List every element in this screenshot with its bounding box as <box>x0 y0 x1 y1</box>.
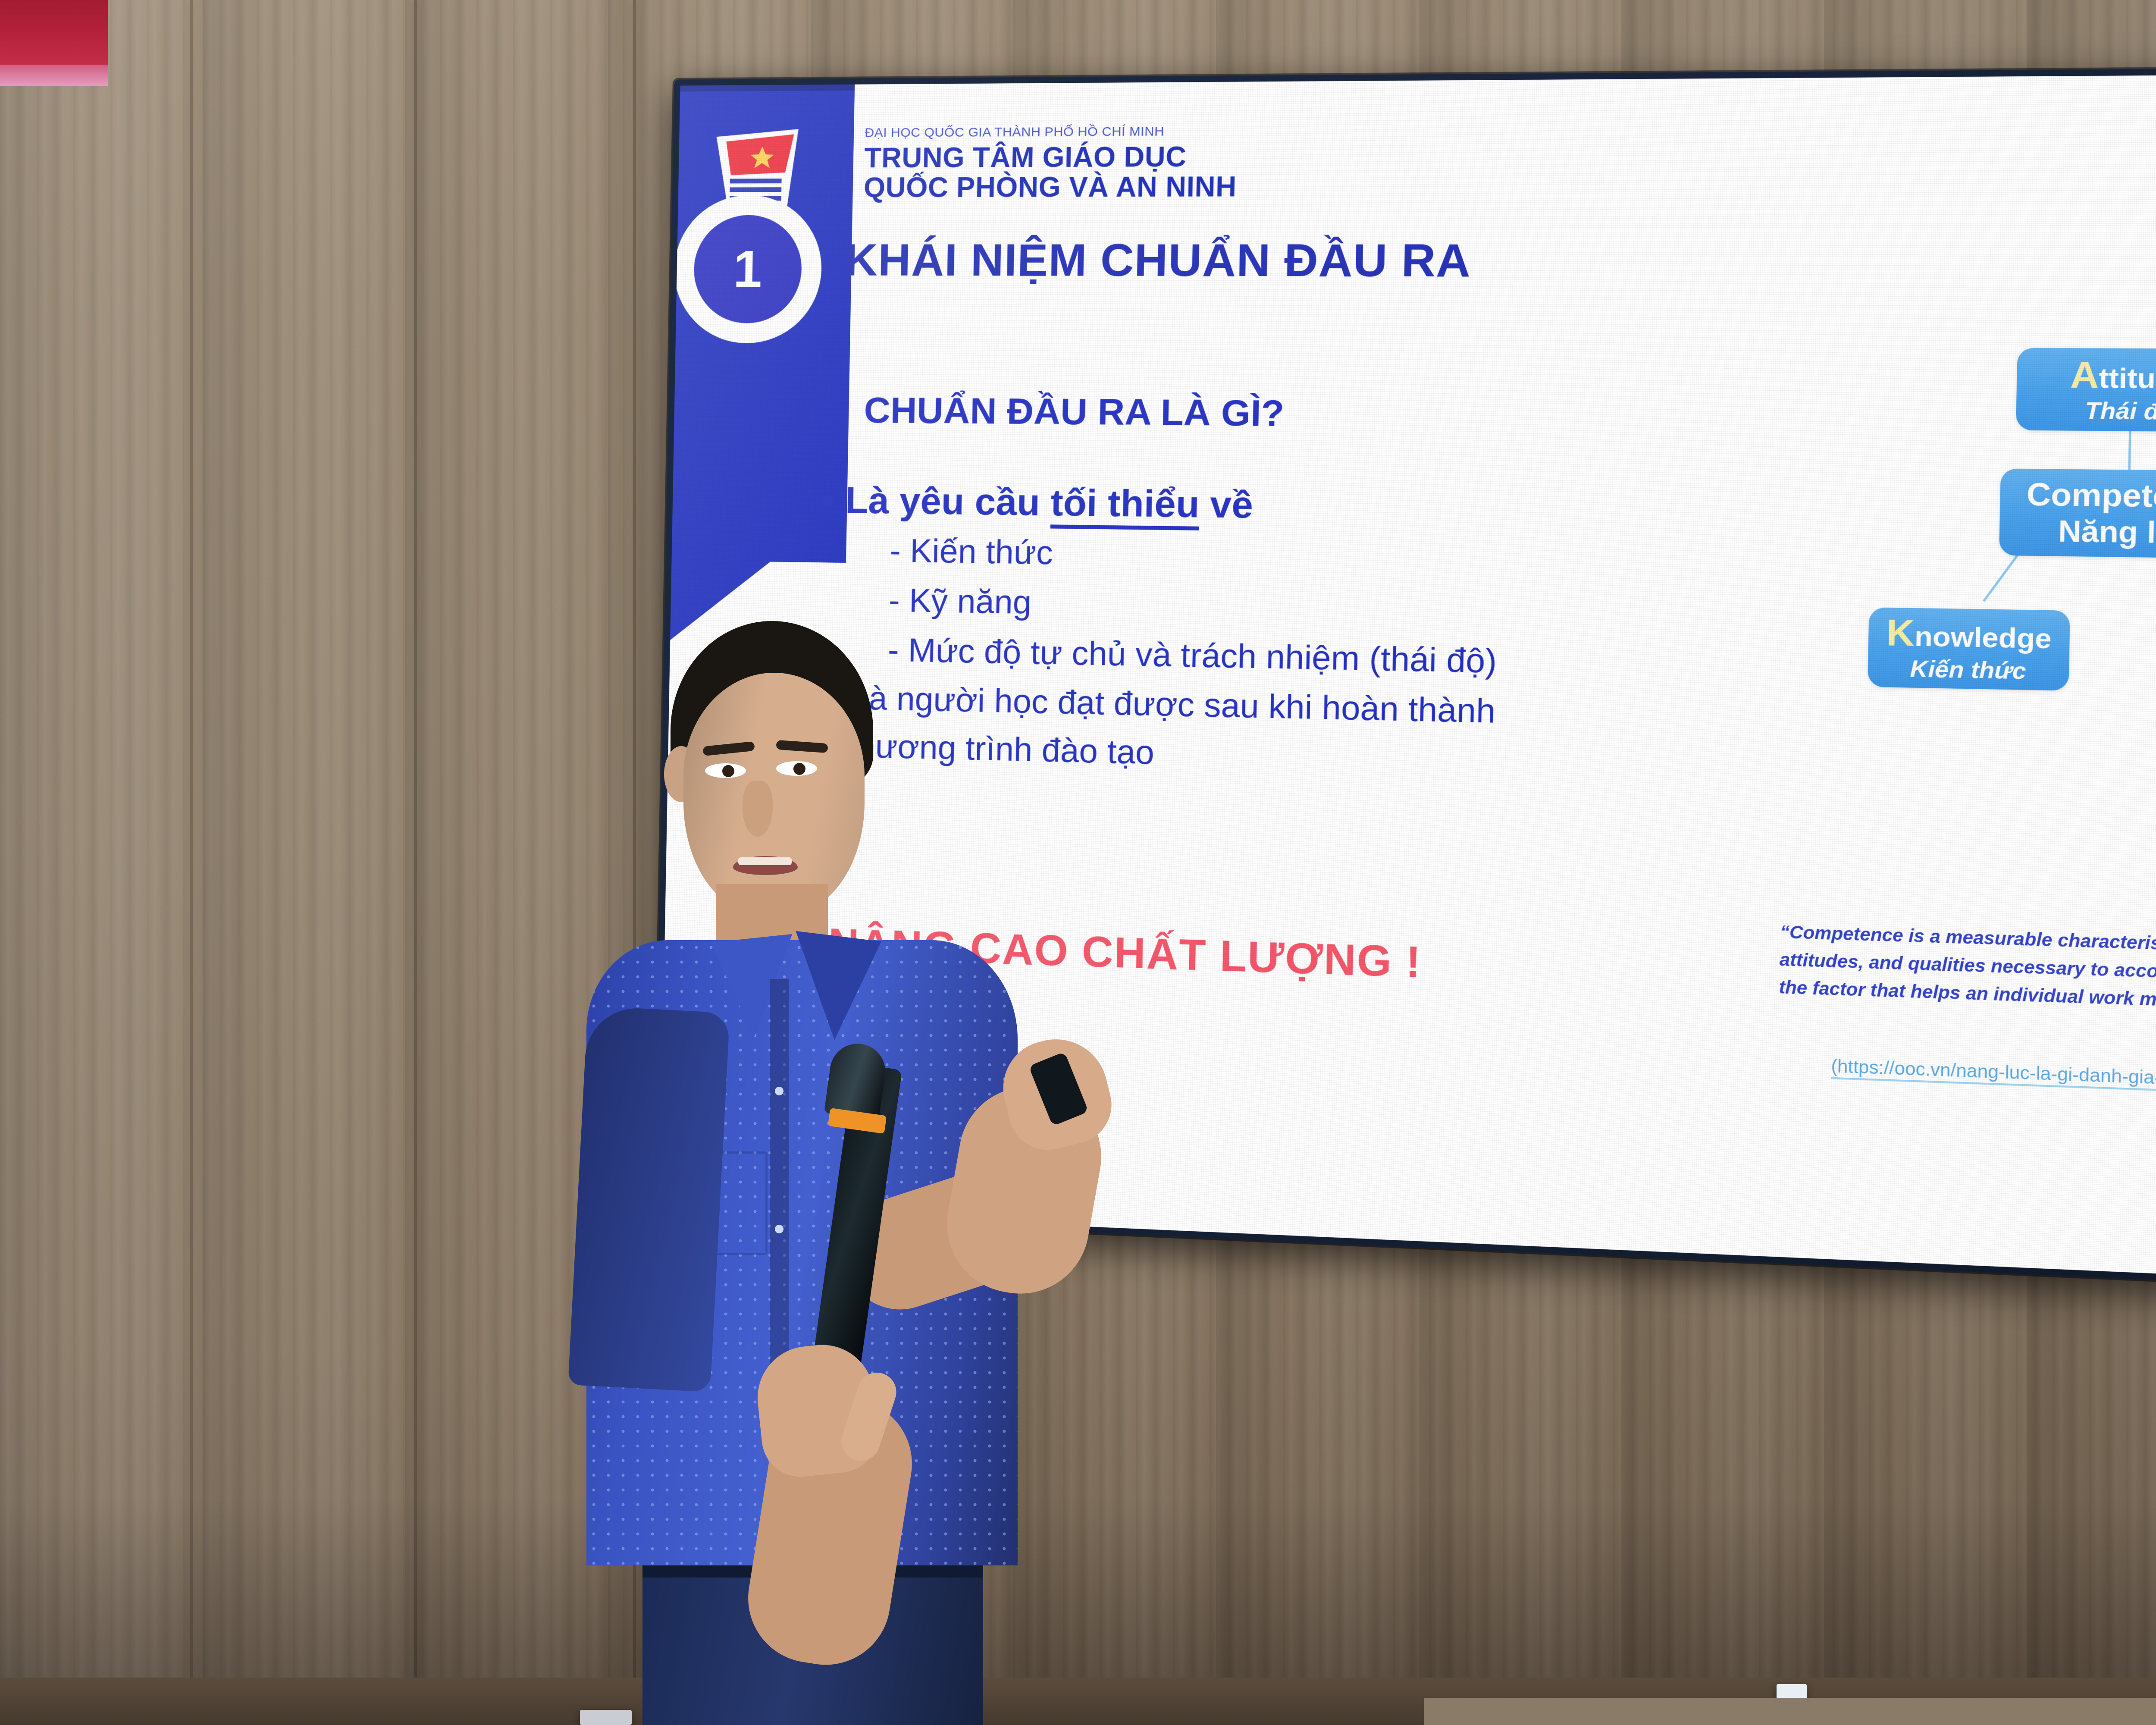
vietnam-flag-book-emblem-icon: VNUHCM <box>704 121 814 221</box>
bullet-marker: • <box>821 479 834 521</box>
presenter-face-shading <box>683 673 865 914</box>
slide-title: KHÁI NIỆM CHUẨN ĐẦU RA <box>845 235 1472 288</box>
node-vi-competency: Năng lực <box>2058 515 2156 549</box>
floor-object <box>1777 1684 1807 1725</box>
slide-brand-topstrip <box>680 85 855 92</box>
center-name-line-1: TRUNG TÂM GIÁO DỤC <box>864 141 1422 173</box>
bullet-lead-after: về <box>1199 483 1253 526</box>
connector-knowledge <box>1983 552 2021 602</box>
presenter <box>573 621 1091 1725</box>
slide-header: ĐẠI HỌC QUỐC GIA THÀNH PHỐ HỒ CHÍ MINH T… <box>863 123 1422 203</box>
competence-quote: “Competence is a measurable characterist… <box>1779 919 2156 1023</box>
slide-question: CHUẨN ĐẦU RA LÀ GÌ? <box>864 389 1285 435</box>
university-name: ĐẠI HỌC QUỐC GIA THÀNH PHỐ HỒ CHÍ MINH <box>865 123 1422 141</box>
connector-attitude <box>2128 430 2131 471</box>
presenter-shirt-button <box>775 1225 783 1233</box>
center-name-line-2: QUỐC PHÒNG VÀ AN NINH <box>863 171 1421 203</box>
presenter-shirt-button <box>775 1087 783 1095</box>
red-accent-panel-upper <box>0 0 108 65</box>
presenter-eye-right <box>776 761 817 776</box>
node-vi-knowledge: Kiến thức <box>1910 657 2026 684</box>
diagram-node-attitude: Attitude Thái độ <box>2016 348 2156 432</box>
presenter-eye-left <box>705 763 746 778</box>
wall-seam <box>414 0 417 1725</box>
section-number: 1 <box>733 239 762 299</box>
node-en-knowledge: Knowledge <box>1886 614 2052 656</box>
presenter-sleeve <box>568 1006 730 1392</box>
diagram-node-knowledge: Knowledge Kiến thức <box>1868 607 2070 690</box>
screenshot-root: VNUHCM ĐẠI HỌC QUỐC GIA THÀNH PHỐ HỒ CHÍ… <box>0 0 2156 1725</box>
node-vi-attitude: Thái độ <box>2085 398 2156 424</box>
presenter-teeth <box>738 857 792 865</box>
wall-seam <box>190 0 193 1725</box>
bullet-lead-before: Là yêu cầu <box>845 480 1051 524</box>
bullet-lead-underlined: tối thiểu <box>1050 482 1200 530</box>
node-en-competency: Competency <box>2026 478 2156 514</box>
source-url[interactable]: (https://ooc.vn/nang-luc-la-gi-danh-gia-… <box>1789 1055 2156 1100</box>
diagram-node-competency: Competency Năng lực <box>1999 468 2156 559</box>
presenter-nose <box>743 781 773 837</box>
competency-diagram: Attitude Thái độ Competency Năng lực Kno… <box>1804 343 2156 812</box>
node-en-attitude: Attitude <box>2070 355 2156 395</box>
